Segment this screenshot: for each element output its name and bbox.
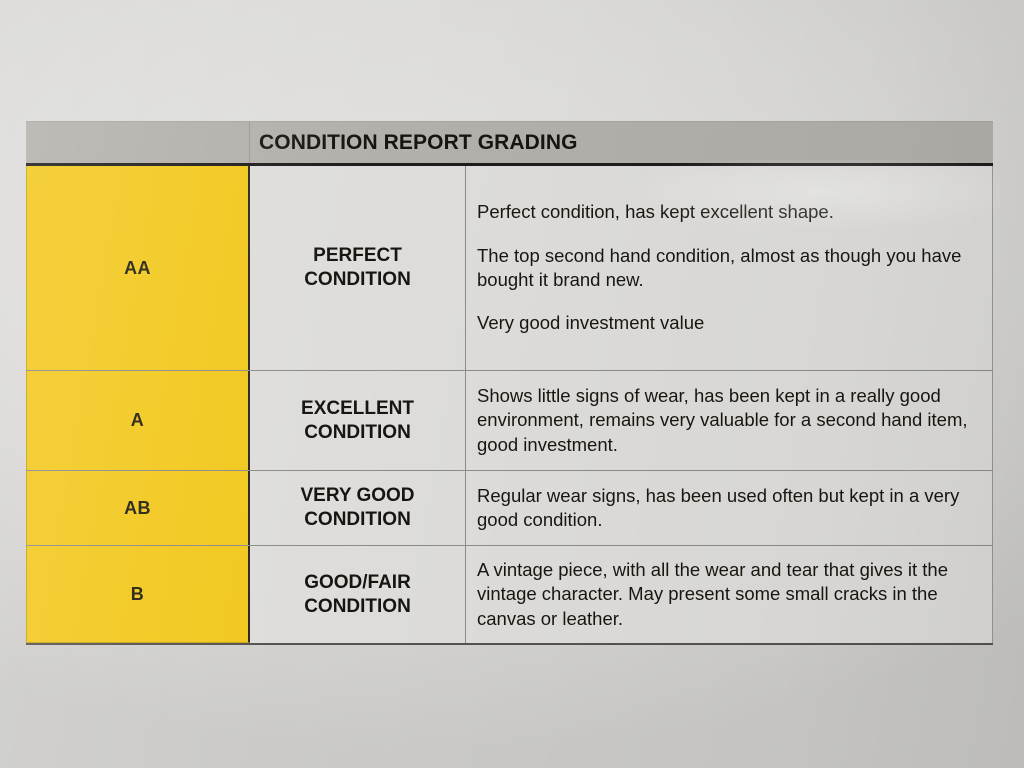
grade-code-cell: AB	[26, 471, 250, 545]
grade-name-cell: GOOD/FAIR CONDITION	[250, 546, 466, 643]
grade-name-line-2: CONDITION	[304, 268, 411, 292]
grade-name-cell: VERY GOOD CONDITION	[250, 471, 466, 545]
grade-name-line-1: EXCELLENT	[301, 397, 414, 421]
grade-code-label: B	[131, 584, 144, 605]
table-row: AB VERY GOOD CONDITION Regular wear sign…	[26, 471, 993, 546]
grade-code-label: A	[131, 410, 144, 431]
grade-code-cell: A	[26, 371, 250, 470]
grade-code-cell: AA	[26, 166, 250, 370]
grade-description-cell: Shows little signs of wear, has been kep…	[466, 371, 993, 470]
grade-name-line-2: CONDITION	[304, 595, 411, 619]
table-row: A EXCELLENT CONDITION Shows little signs…	[26, 371, 993, 471]
grade-name-cell: EXCELLENT CONDITION	[250, 371, 466, 470]
grade-name-line-2: CONDITION	[304, 508, 411, 532]
grade-code-label: AA	[124, 258, 151, 279]
condition-report-grading-table: CONDITION REPORT GRADING AA PERFECT COND…	[26, 121, 993, 645]
grade-description-paragraph: A vintage piece, with all the wear and t…	[477, 558, 978, 631]
grade-description-cell: A vintage piece, with all the wear and t…	[466, 546, 993, 643]
table-header-title-cell: CONDITION REPORT GRADING	[250, 122, 993, 163]
grade-description-paragraph: Regular wear signs, has been used often …	[477, 484, 978, 533]
grade-description-paragraph: Perfect condition, has kept excellent sh…	[477, 200, 978, 224]
grade-description-cell: Regular wear signs, has been used often …	[466, 471, 993, 545]
page-title: CONDITION REPORT GRADING	[259, 131, 578, 155]
table-row: AA PERFECT CONDITION Perfect condition, …	[26, 166, 993, 371]
grade-name-line-1: PERFECT	[313, 244, 402, 268]
paper-background: CONDITION REPORT GRADING AA PERFECT COND…	[0, 0, 1024, 768]
grade-name-line-1: GOOD/FAIR	[304, 571, 411, 595]
table-header-spacer-cell	[26, 122, 250, 163]
grade-name-line-1: VERY GOOD	[300, 484, 414, 508]
grade-name-cell: PERFECT CONDITION	[250, 166, 466, 370]
grade-code-cell: B	[26, 546, 250, 643]
grade-description-cell: Perfect condition, has kept excellent sh…	[466, 166, 993, 370]
table-header-band: CONDITION REPORT GRADING	[26, 121, 993, 166]
grade-description-paragraph: Very good investment value	[477, 311, 978, 335]
grade-description-paragraph: Shows little signs of wear, has been kep…	[477, 384, 978, 457]
grade-name-line-2: CONDITION	[304, 421, 411, 445]
table-row: B GOOD/FAIR CONDITION A vintage piece, w…	[26, 546, 993, 645]
grade-description-paragraph: The top second hand condition, almost as…	[477, 244, 978, 293]
grade-code-label: AB	[124, 498, 151, 519]
